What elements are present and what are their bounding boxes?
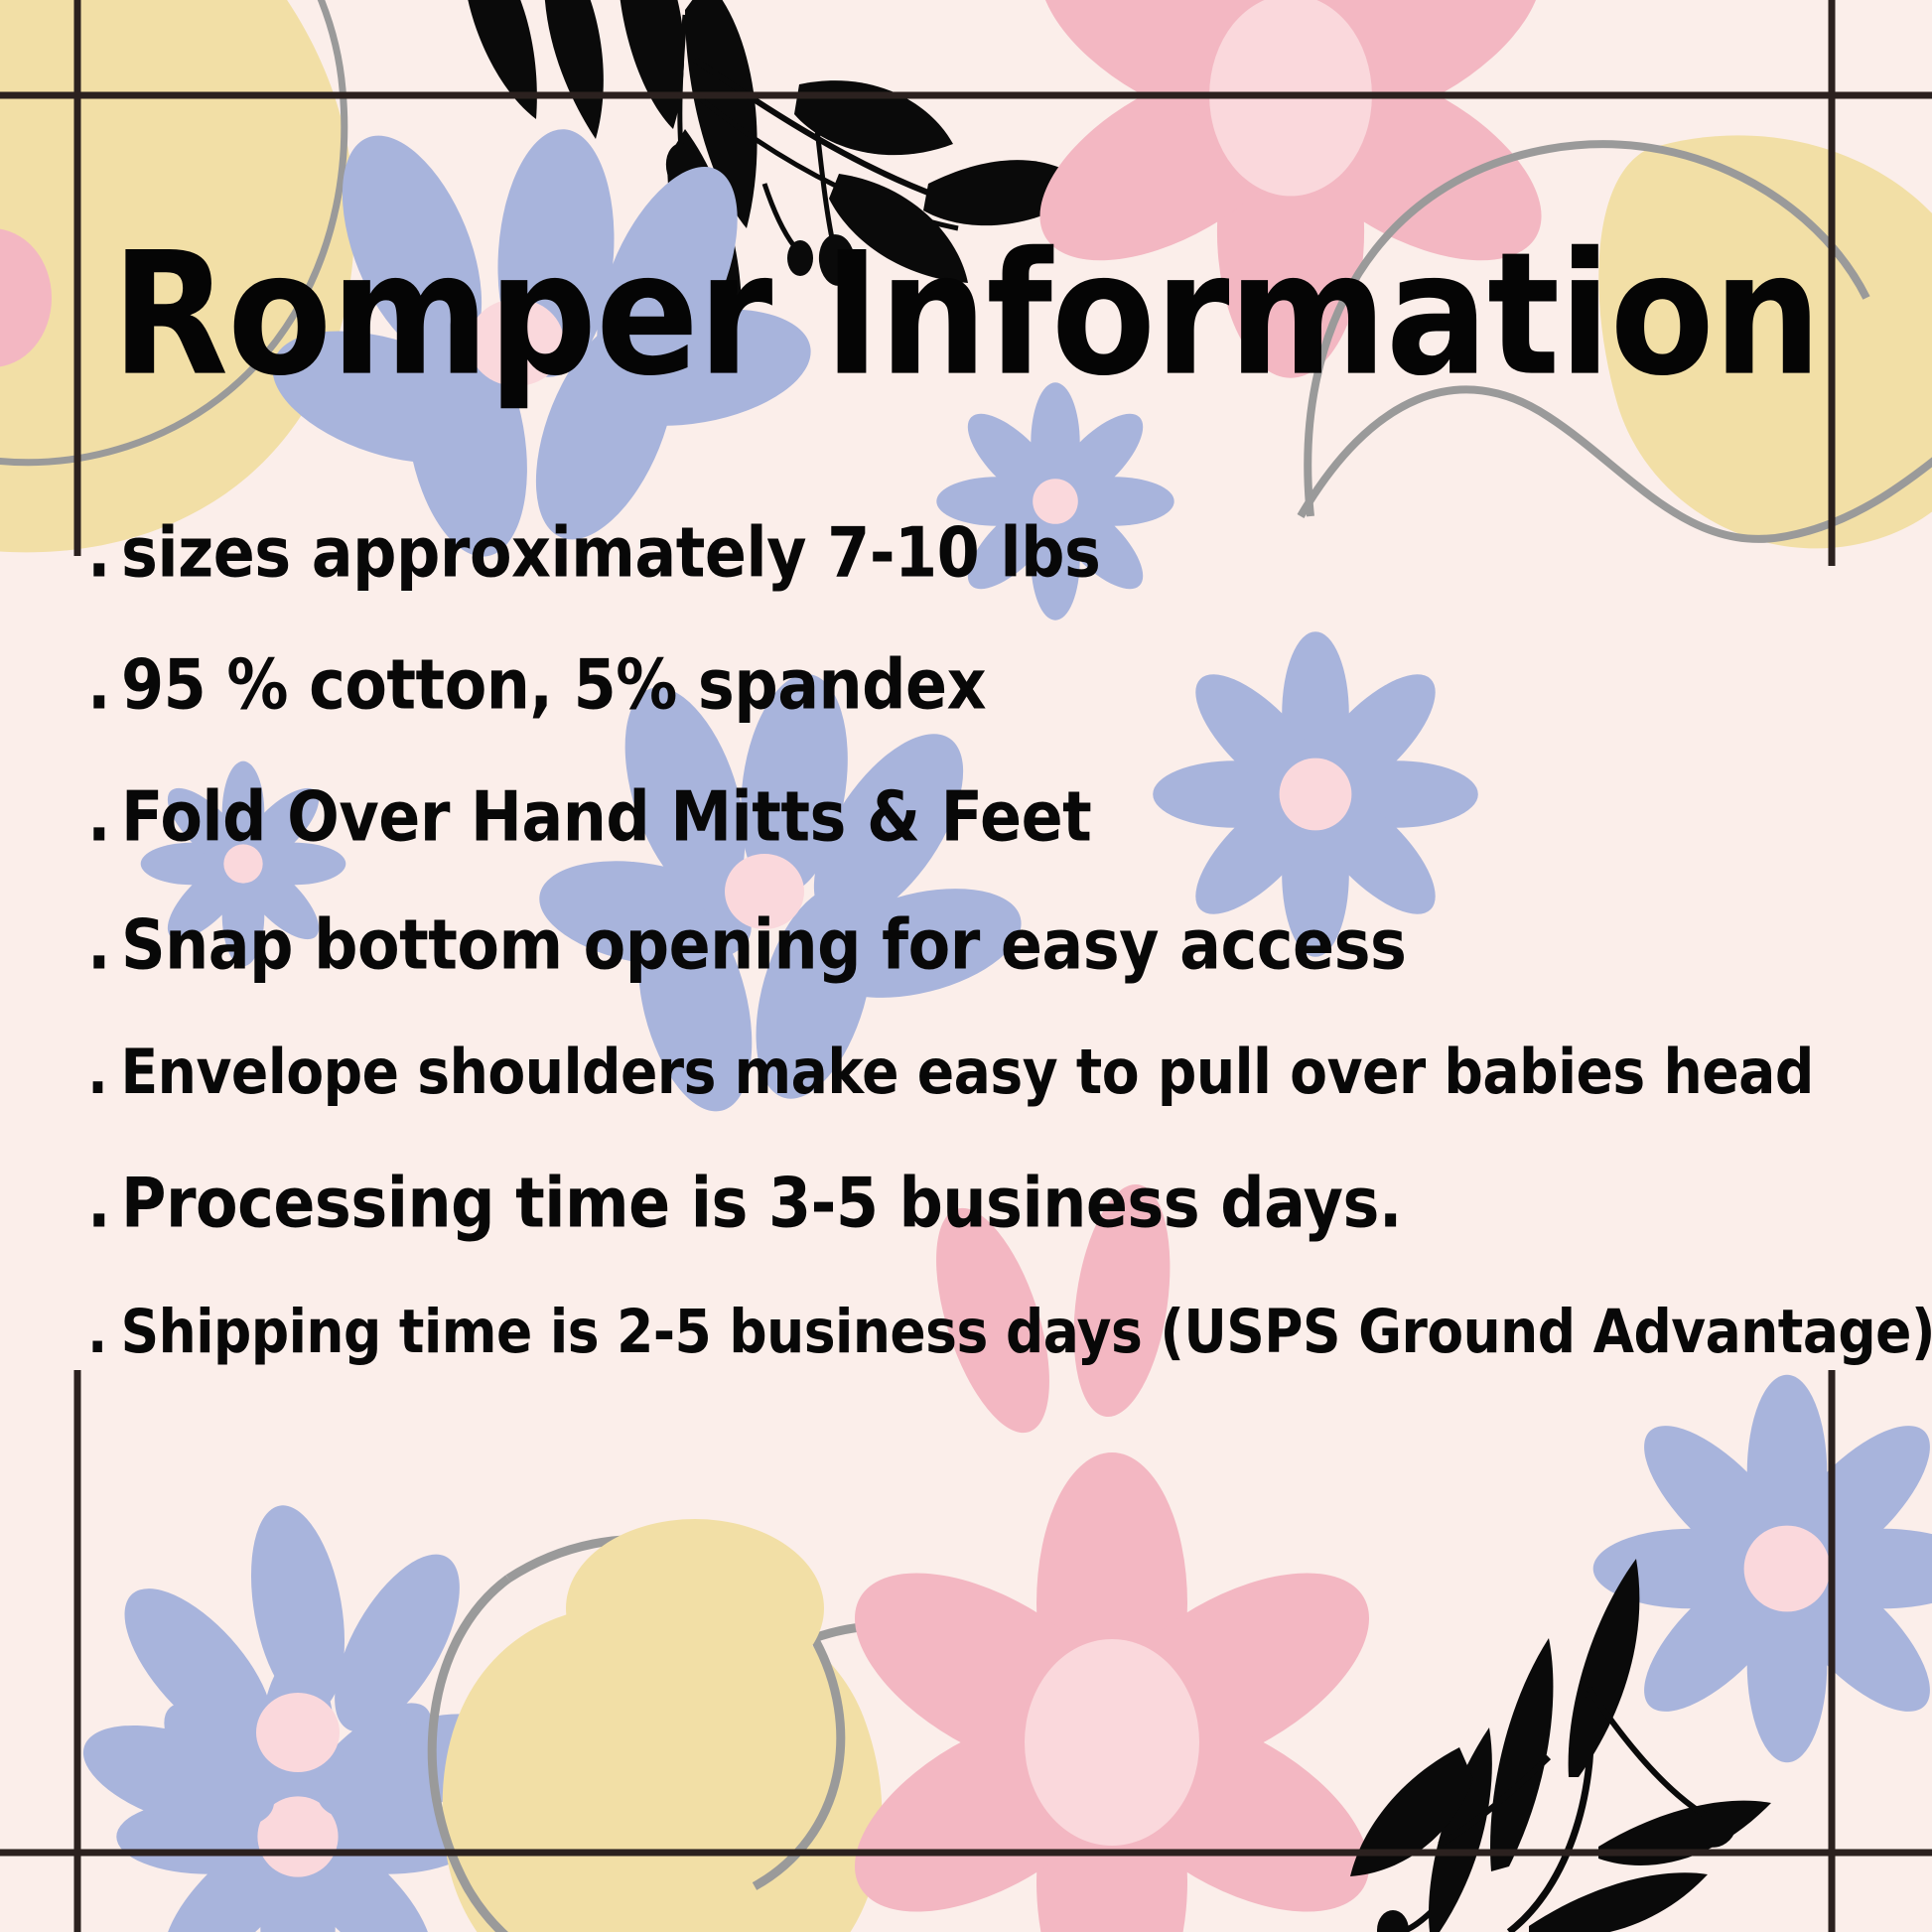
list-item-label: Shipping time is 2-5 business days (USPS… <box>121 1297 1932 1367</box>
bullet-marker: . <box>87 776 121 858</box>
list-item: . 95 % cotton, 5% spandex <box>87 644 986 726</box>
list-item-label: Envelope shoulders make easy to pull ove… <box>120 1036 1813 1109</box>
list-item-label: Fold Over Hand Mitts & Feet <box>121 776 1091 858</box>
list-item: . Snap bottom opening for easy access <box>87 904 1406 986</box>
list-item: . Fold Over Hand Mitts & Feet <box>87 776 1091 858</box>
list-item-label: 95 % cotton, 5% spandex <box>121 644 986 726</box>
list-item-label: Snap bottom opening for easy access <box>121 904 1406 986</box>
list-item: . Processing time is 3-5 business days. <box>87 1163 1402 1244</box>
page-title: Romper Information <box>0 230 1932 400</box>
bullet-marker: . <box>87 644 121 726</box>
bullet-marker: . <box>87 512 121 594</box>
poster-canvas: Romper Information . sizes approximately… <box>0 0 1932 1932</box>
list-item-label: sizes approximately 7-10 lbs <box>121 512 1100 594</box>
list-item: . Shipping time is 2-5 business days (US… <box>87 1297 1932 1367</box>
bullet-marker: . <box>87 904 121 986</box>
bullet-marker: . <box>87 1297 121 1367</box>
list-item-label: Processing time is 3-5 business days. <box>121 1163 1402 1244</box>
list-item: . sizes approximately 7-10 lbs <box>87 512 1100 594</box>
bullet-marker: . <box>87 1163 121 1244</box>
bullet-marker: . <box>87 1036 120 1109</box>
list-item: . Envelope shoulders make easy to pull o… <box>87 1036 1814 1109</box>
